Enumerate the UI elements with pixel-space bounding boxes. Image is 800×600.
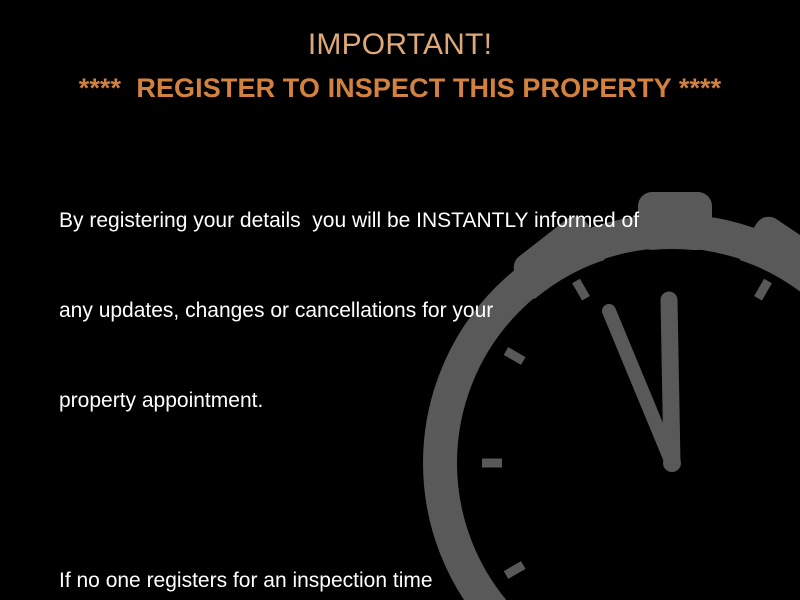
body-block: By registering your details you will be … bbox=[59, 146, 739, 600]
slide-canvas: IMPORTANT! **** REGISTER TO INSPECT THIS… bbox=[0, 0, 800, 600]
headline-register: **** REGISTER TO INSPECT THIS PROPERTY *… bbox=[0, 69, 800, 107]
paragraph-no-registration-warning: If no one registers for an inspection ti… bbox=[59, 506, 739, 600]
headline-important: IMPORTANT! bbox=[0, 26, 800, 64]
paragraph-spacer-1 bbox=[59, 476, 739, 506]
paragraph1-line2: any updates, changes or cancellations fo… bbox=[59, 296, 739, 326]
paragraph2-line1: If no one registers for an inspection ti… bbox=[59, 566, 739, 596]
paragraph1-line1: By registering your details you will be … bbox=[59, 206, 739, 236]
paragraph-registering-benefits: By registering your details you will be … bbox=[59, 146, 739, 476]
headline-block: IMPORTANT! **** REGISTER TO INSPECT THIS… bbox=[0, 26, 800, 107]
slide-content: IMPORTANT! **** REGISTER TO INSPECT THIS… bbox=[0, 0, 800, 600]
paragraph1-line3: property appointment. bbox=[59, 386, 739, 416]
